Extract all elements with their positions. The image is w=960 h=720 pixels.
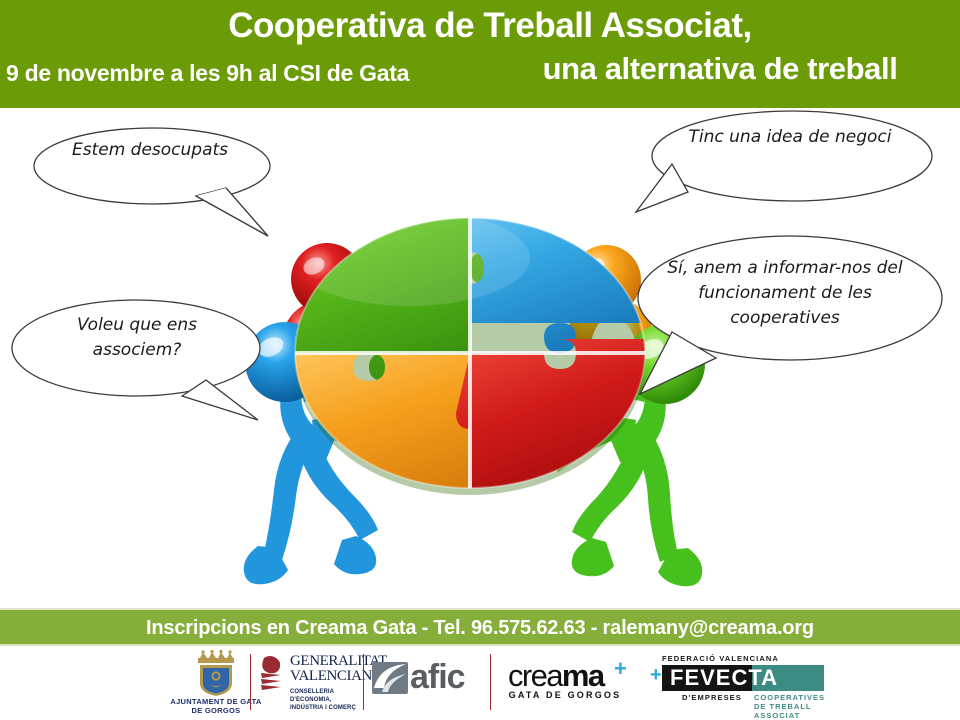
header-banner: Cooperativa de Treball Associat, 9 de no… [0,0,960,108]
logo-fevecta-word-teal: CTA [731,665,778,690]
logo-creama-gata-de-gorgos: creama + GATA DE GORGOS [502,660,640,706]
sponsor-logos-footer: AJUNTAMENT DE GATA DE GORGOS GENERALITAT… [0,646,960,720]
logo-divider-2 [363,654,364,710]
afic-swoosh-icon [372,662,408,696]
speech-bubble-inform [638,236,942,394]
logo-fevecta-top-text: FEDERACIÓ VALENCIANA [662,654,779,663]
illustration-graphic [0,108,960,608]
contact-banner: Inscripcions en Creama Gata - Tel. 96.57… [0,608,960,646]
logo-fevecta-word: FEVECTA [670,666,778,690]
jigsaw-puzzle-disc [280,188,665,528]
generalitat-bat-icon [258,654,286,694]
page-title: Cooperativa de Treball Associat, [60,6,920,46]
logo-fevecta-bottom-left: D'EMPRESES [682,693,742,702]
speech-bubble-unemployed [34,128,270,236]
logo-creama-text-light: crea [508,658,562,693]
logo-afic-text: afic [410,660,465,694]
illustration-stage: Estem desocupats Tinc una idea de negoci… [0,108,960,608]
logo-fevecta-wordmark: FEVECTA [662,665,824,691]
poster-canvas: Cooperativa de Treball Associat, 9 de no… [0,0,960,720]
logo-generalitat-valenciana: GENERALITAT VALENCIANA CONSELLERIA D'ECO… [258,652,370,714]
logo-divider-3 [490,654,491,710]
logo-creama-text-bold: ma [562,658,604,693]
logo-afic: afic [372,658,484,706]
logo-fevecta: + FEDERACIÓ VALENCIANA FEVECTA D'EMPRESE… [650,654,836,712]
logo-creama-sub: GATA DE GORGOS [502,690,628,700]
speech-bubble-idea [636,111,932,212]
logo-generalitat-sub: CONSELLERIA D'ECONOMIA, INDÚSTRIA I COME… [290,688,372,712]
logo-divider-1 [250,654,251,710]
logo-creama-plus-icon: + [614,656,627,682]
contact-info-text: Inscripcions en Creama Gata - Tel. 96.57… [0,617,960,640]
page-subtitle: una alternativa de treball [490,51,950,87]
logo-creama-text: creama [508,660,604,691]
fevecta-plus-icon: + [650,664,662,687]
event-datetime-text: 9 de novembre a les 9h al CSI de Gata [6,60,409,87]
logo-fevecta-word-dark: FEVE [670,665,731,690]
logo-fevecta-bottom-right: COOPERATIVES DE TREBALL ASSOCIAT [754,693,840,720]
speech-bubble-associate [12,300,260,420]
